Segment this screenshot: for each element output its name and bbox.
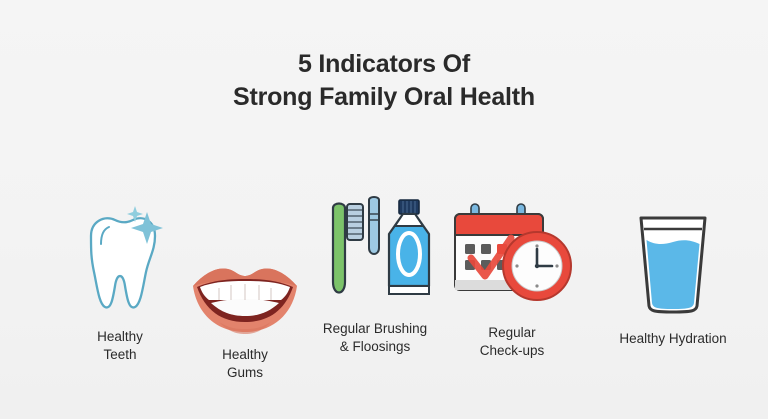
title-line-2: Strong Family Oral Health — [0, 81, 768, 114]
indicator-label: Regular Check-ups — [437, 324, 587, 360]
toothbrush-toothpaste-icon — [300, 188, 450, 308]
indicator-list: Healthy Teeth — [0, 180, 768, 380]
indicator-label: Regular Brushing & Floosings — [300, 320, 450, 356]
title-line-1: 5 Indicators Of — [0, 48, 768, 81]
indicator-healthy-hydration: Healthy Hydration — [588, 194, 758, 348]
smiling-lips-icon — [170, 216, 320, 336]
indicator-regular-brushing: Regular Brushing & Floosings — [300, 188, 450, 356]
infographic-poster: 5 Indicators Of Strong Family Oral Healt… — [0, 0, 768, 419]
indicator-label: Healthy Gums — [170, 346, 320, 382]
indicator-regular-checkups: Regular Check-ups — [437, 192, 587, 360]
page-title: 5 Indicators Of Strong Family Oral Healt… — [0, 48, 768, 113]
water-glass-icon — [588, 194, 758, 314]
indicator-healthy-gums: Healthy Gums — [170, 216, 320, 382]
indicator-label: Healthy Hydration — [588, 330, 758, 348]
calendar-clock-icon — [437, 192, 587, 312]
